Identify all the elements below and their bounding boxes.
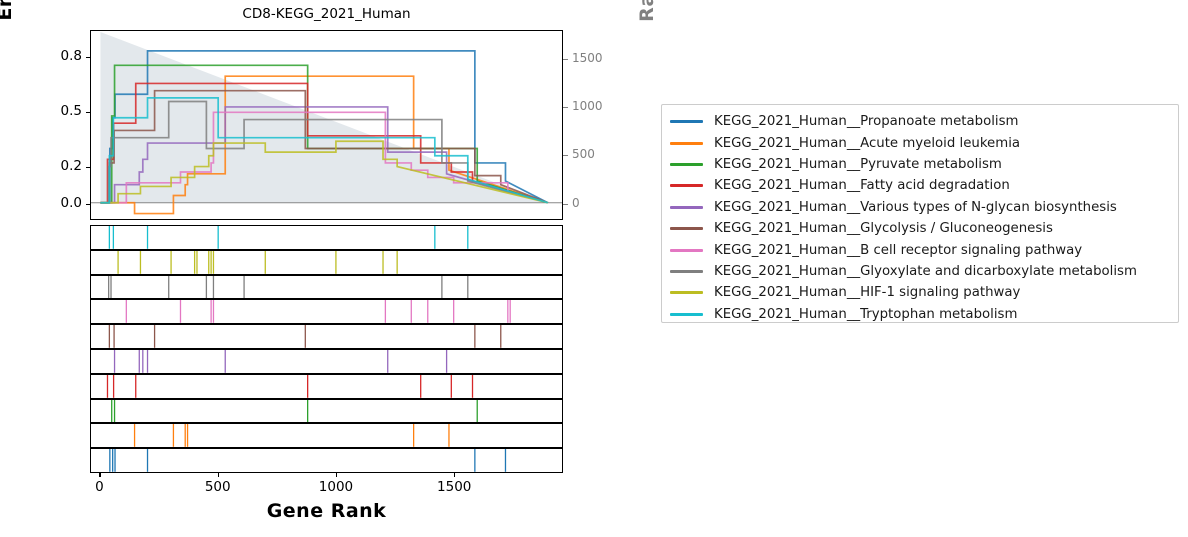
legend-item-label: KEGG_2021_Human__HIF-1 signaling pathway [714, 285, 1020, 300]
legend-color-swatch [670, 227, 703, 230]
legend-item-label: KEGG_2021_Human__Tryptophan metabolism [714, 307, 1017, 322]
legend-item-label: KEGG_2021_Human__Various types of N-glyc… [714, 200, 1117, 215]
ranked-metric-area [100, 32, 547, 203]
y-axis-label-right: Ranked metric [636, 0, 658, 36]
y-tick-mark-left [86, 167, 90, 168]
y-tick-label-left: 0.8 [22, 48, 82, 64]
x-axis-label: Gene Rank [90, 500, 563, 522]
enrichment-score-axes [90, 30, 563, 220]
hit-band [90, 448, 563, 473]
y-tick-label-right: 0 [572, 196, 632, 210]
y-tick-mark-left [86, 112, 90, 113]
x-tick-mark [99, 473, 100, 477]
hit-band-svg [91, 251, 562, 274]
hit-band [90, 374, 563, 399]
legend-item-label: KEGG_2021_Human__Glycolysis / Gluconeoge… [714, 221, 1053, 236]
legend: KEGG_2021_Human__Propanoate metabolismKE… [661, 104, 1179, 323]
y-tick-label-right: 500 [572, 147, 632, 161]
x-tick-label: 500 [178, 479, 258, 495]
legend-item-label: KEGG_2021_Human__Fatty acid degradation [714, 178, 1010, 193]
x-tick-label: 1500 [414, 479, 494, 495]
hit-band [90, 275, 563, 300]
hit-marker-bands [90, 225, 563, 473]
hit-band-svg [91, 424, 562, 447]
hit-band-svg [91, 300, 562, 323]
y-tick-mark-left [86, 204, 90, 205]
enrichment-curves-svg [91, 31, 562, 219]
y-tick-label-left: 0.5 [22, 103, 82, 119]
gsea-enrichment-figure: CD8-KEGG_2021_Human Enrichment Score Ran… [0, 0, 1188, 537]
y-tick-mark-left [86, 57, 90, 58]
y-tick-label-left: 0.0 [22, 195, 82, 211]
legend-item-label: KEGG_2021_Human__Propanoate metabolism [714, 114, 1018, 129]
hit-band [90, 423, 563, 448]
legend-item[interactable]: KEGG_2021_Human__Fatty acid degradation [670, 175, 1010, 196]
legend-item[interactable]: KEGG_2021_Human__Glycolysis / Gluconeoge… [670, 218, 1053, 239]
y-tick-mark-right [563, 59, 568, 60]
legend-color-swatch [670, 163, 703, 166]
legend-item[interactable]: KEGG_2021_Human__Tryptophan metabolism [670, 304, 1017, 325]
legend-color-swatch [670, 142, 703, 145]
hit-band [90, 349, 563, 374]
y-tick-mark-right [563, 204, 568, 205]
hit-band-svg [91, 226, 562, 249]
legend-color-swatch [670, 184, 703, 187]
hit-band [90, 225, 563, 250]
legend-item-label: KEGG_2021_Human__Glyoxylate and dicarbox… [714, 264, 1137, 279]
y-tick-mark-right [563, 107, 568, 108]
legend-color-swatch [670, 313, 703, 316]
hit-band [90, 299, 563, 324]
legend-color-swatch [670, 206, 703, 209]
hit-band [90, 324, 563, 349]
legend-item[interactable]: KEGG_2021_Human__Propanoate metabolism [670, 111, 1018, 132]
legend-item[interactable]: KEGG_2021_Human__Various types of N-glyc… [670, 197, 1117, 218]
legend-item-label: KEGG_2021_Human__B cell receptor signali… [714, 243, 1082, 258]
legend-color-swatch [670, 120, 703, 123]
legend-color-swatch [670, 270, 703, 273]
hit-band [90, 399, 563, 424]
legend-item[interactable]: KEGG_2021_Human__Glyoxylate and dicarbox… [670, 261, 1137, 282]
y-tick-mark-right [563, 155, 568, 156]
legend-item-label: KEGG_2021_Human__Acute myeloid leukemia [714, 136, 1020, 151]
y-tick-label-right: 1000 [572, 99, 632, 113]
x-tick-label: 1000 [296, 479, 376, 495]
legend-color-swatch [670, 249, 703, 252]
x-tick-label: 0 [59, 479, 139, 495]
hit-band-svg [91, 400, 562, 423]
hit-band-svg [91, 276, 562, 299]
hit-band-svg [91, 350, 562, 373]
y-tick-label-right: 1500 [572, 51, 632, 65]
legend-item[interactable]: KEGG_2021_Human__Pyruvate metabolism [670, 154, 1002, 175]
hit-band [90, 250, 563, 275]
x-tick-mark [454, 473, 455, 477]
legend-color-swatch [670, 291, 703, 294]
legend-item-label: KEGG_2021_Human__Pyruvate metabolism [714, 157, 1002, 172]
hit-band-svg [91, 375, 562, 398]
legend-item[interactable]: KEGG_2021_Human__Acute myeloid leukemia [670, 132, 1020, 153]
hit-band-svg [91, 325, 562, 348]
legend-item[interactable]: KEGG_2021_Human__HIF-1 signaling pathway [670, 282, 1020, 303]
x-tick-mark [336, 473, 337, 477]
hit-band-svg [91, 449, 562, 472]
y-tick-label-left: 0.2 [22, 158, 82, 174]
y-axis-label-left: Enrichment Score [0, 0, 16, 22]
x-tick-mark [218, 473, 219, 477]
legend-item[interactable]: KEGG_2021_Human__B cell receptor signali… [670, 239, 1082, 260]
page-title: CD8-KEGG_2021_Human [90, 6, 563, 22]
